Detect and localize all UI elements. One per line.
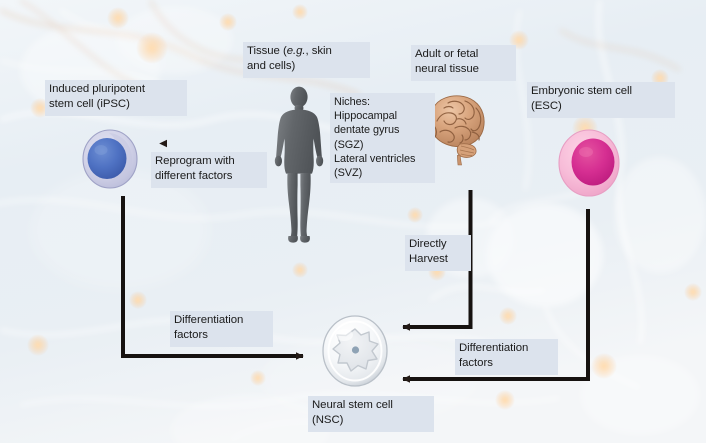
label-reprogram-with-different-factors: Reprogram with different factors [151,152,267,188]
neural-stem-cell [316,311,394,391]
label-niches: Niches: Hippocampal dentate gyrus (SGZ) … [330,93,435,183]
embryonic-stem-cell [553,126,625,200]
figure-canvas: Induced pluripotent stem cell (iPSC) Tis… [0,0,706,443]
induced-pluripotent-stem-cell [77,126,143,192]
human-body-silhouette [262,85,336,245]
label-directly-harvest: Directly Harvest [405,235,471,271]
label-differentiation-factors-left: Differentiation factors [170,311,273,347]
label-tissue-pre: Tissue ( [247,45,287,57]
label-adult-fetal-neural-tissue: Adult or fetal neural tissue [411,45,516,81]
label-tissue-italic: e.g. [287,45,306,57]
label-nsc: Neural stem cell (NSC) [308,396,434,432]
label-tissue: Tissue (e.g., skin and cells) [243,42,370,78]
label-esc: Embryonic stem cell (ESC) [527,82,675,118]
label-ipsc: Induced pluripotent stem cell (iPSC) [45,80,187,116]
label-differentiation-factors-right: Differentiation factors [455,339,558,375]
